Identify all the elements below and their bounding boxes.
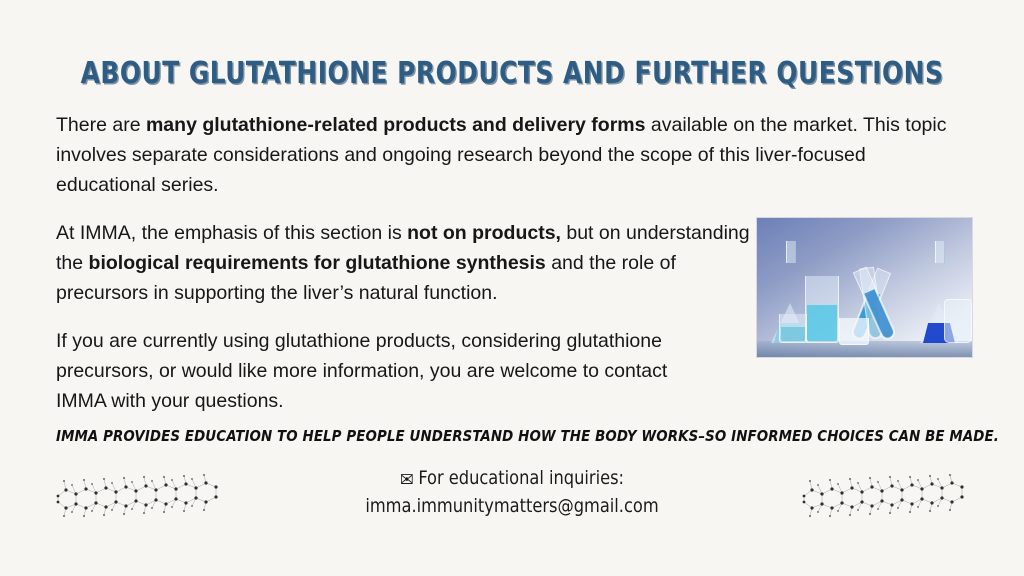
page-title: ABOUT GLUTATHIONE PRODUCTS AND FURTHER Q… — [41, 56, 983, 91]
beaker-tall-cyan-liquid — [807, 305, 837, 341]
footer-inquiries-label: For educational inquiries: — [418, 467, 624, 489]
slide-canvas: ABOUT GLUTATHIONE PRODUCTS AND FURTHER Q… — [0, 0, 1024, 576]
flask-left-neck — [786, 241, 796, 263]
jar-right — [944, 299, 972, 343]
beaker-tall-cyan — [805, 276, 839, 343]
paragraph-products-intro: There are many glutathione-related produ… — [56, 110, 968, 200]
paragraph-2-text-part-1: At IMMA, the emphasis of this section is — [56, 222, 407, 244]
tagline: IMMA PROVIDES EDUCATION TO HELP PEOPLE U… — [56, 427, 939, 445]
paragraph-2-bold-2: biological requirements for glutathione … — [89, 252, 546, 274]
paragraph-1-bold-1: many glutathione-related products and de… — [146, 114, 646, 136]
paragraph-1-text-part-1: There are — [56, 114, 146, 136]
paragraph-2-bold-1: not on products, — [407, 222, 561, 244]
laboratory-glassware-photo — [757, 218, 972, 357]
flask-right-neck — [935, 241, 945, 263]
paragraph-imma-emphasis: At IMMA, the emphasis of this section is… — [56, 218, 756, 308]
envelope-icon: ✉ — [400, 467, 414, 493]
molecule-graphic-left — [52, 470, 232, 520]
beaker-small-front-liquid — [781, 327, 805, 341]
beaker-clear-front — [839, 318, 869, 345]
beaker-small-front — [779, 314, 807, 343]
paragraph-contact-invitation: If you are currently using glutathione p… — [56, 326, 716, 416]
molecule-graphic-right — [798, 470, 978, 520]
